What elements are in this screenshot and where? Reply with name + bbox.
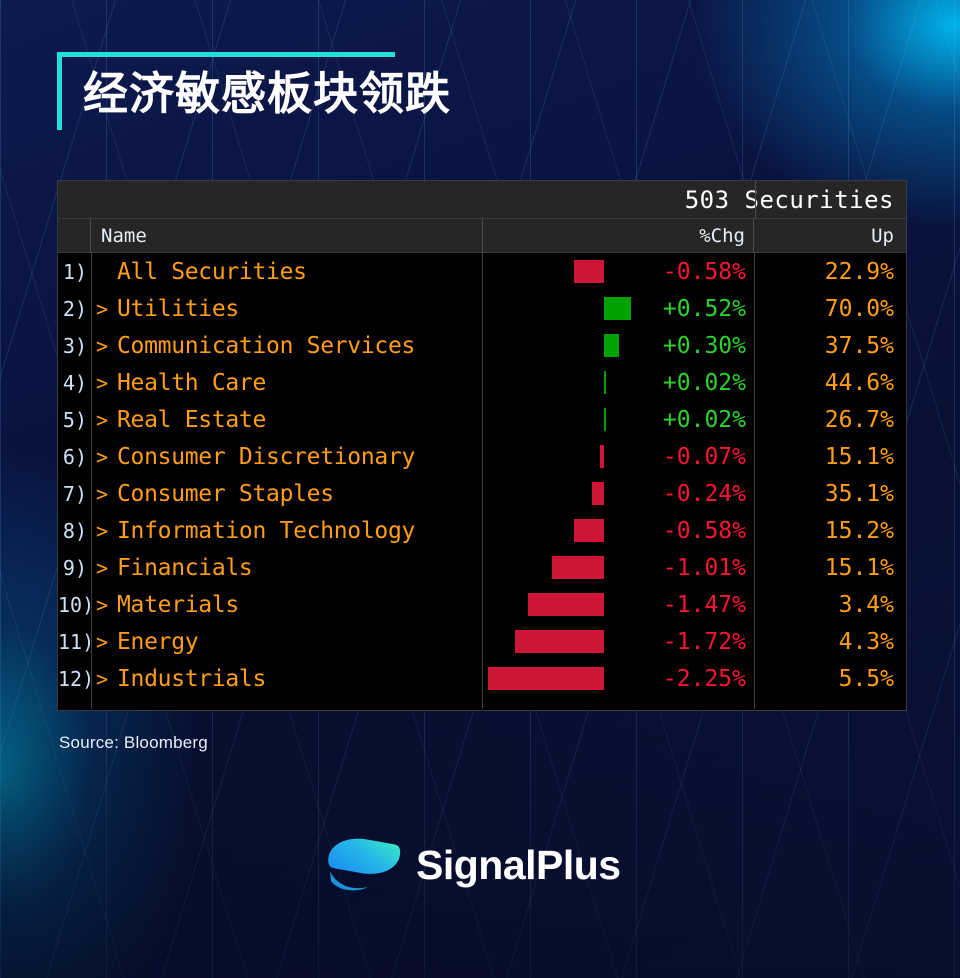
row-index: 1)	[58, 260, 91, 284]
up-value: 15.1%	[755, 444, 906, 470]
expand-caret-icon[interactable]: >	[91, 667, 113, 691]
row-index: 9)	[58, 556, 91, 580]
column-header-chg[interactable]: %Chg	[482, 219, 753, 252]
expand-caret-icon	[91, 260, 113, 284]
signalplus-mark-icon	[322, 833, 402, 897]
brand-logo: SignalPlus	[322, 833, 621, 897]
table-row[interactable]: 11)>Energy-1.72%4.3%	[58, 623, 906, 660]
up-value: 15.2%	[755, 518, 906, 544]
chg-value: -1.72%	[482, 629, 754, 655]
up-value: 37.5%	[755, 333, 906, 359]
expand-caret-icon[interactable]: >	[91, 593, 113, 617]
expand-caret-icon[interactable]: >	[91, 445, 113, 469]
expand-caret-icon[interactable]: >	[91, 334, 113, 358]
row-index: 6)	[58, 445, 91, 469]
chg-value: -0.24%	[482, 481, 754, 507]
bloomberg-table: 503 Securities Name %Chg Up 1) All Secur…	[57, 180, 907, 711]
chg-value: +0.30%	[482, 333, 754, 359]
row-index: 3)	[58, 334, 91, 358]
table-row[interactable]: 9)>Financials-1.01%15.1%	[58, 549, 906, 586]
row-index: 2)	[58, 297, 91, 321]
source-note: Source: Bloomberg	[59, 733, 208, 753]
up-value: 15.1%	[755, 555, 906, 581]
table-row[interactable]: 4)>Health Care+0.02%44.6%	[58, 364, 906, 401]
chg-value: +0.02%	[482, 407, 754, 433]
table-row[interactable]: 6)>Consumer Discretionary-0.07%15.1%	[58, 438, 906, 475]
expand-caret-icon[interactable]: >	[91, 371, 113, 395]
up-value: 22.9%	[755, 259, 906, 285]
table-row[interactable]: 8)>Information Technology-0.58%15.2%	[58, 512, 906, 549]
row-index: 10)	[58, 593, 91, 617]
chg-value: -2.25%	[482, 666, 754, 692]
up-value: 3.4%	[755, 592, 906, 618]
table-titlebar: 503 Securities	[58, 181, 906, 219]
table-body: 1) All Securities-0.58%22.9%2)>Utilities…	[58, 253, 906, 709]
row-index: 4)	[58, 371, 91, 395]
table-row[interactable]: 1) All Securities-0.58%22.9%	[58, 253, 906, 290]
expand-caret-icon[interactable]: >	[91, 297, 113, 321]
table-row[interactable]: 12)>Industrials-2.25%5.5%	[58, 660, 906, 697]
up-value: 35.1%	[755, 481, 906, 507]
chg-value: -0.07%	[482, 444, 754, 470]
chg-value: +0.52%	[482, 296, 754, 322]
up-value: 26.7%	[755, 407, 906, 433]
chg-value: -1.01%	[482, 555, 754, 581]
up-value: 5.5%	[755, 666, 906, 692]
column-header-up[interactable]: Up	[753, 219, 906, 252]
table-row[interactable]: 10)>Materials-1.47%3.4%	[58, 586, 906, 623]
expand-caret-icon[interactable]: >	[91, 408, 113, 432]
table-row[interactable]: 2)>Utilities+0.52%70.0%	[58, 290, 906, 327]
table-row[interactable]: 7)>Consumer Staples-0.24%35.1%	[58, 475, 906, 512]
expand-caret-icon[interactable]: >	[91, 482, 113, 506]
row-index: 8)	[58, 519, 91, 543]
headline-block: 经济敏感板块领跌	[57, 52, 451, 119]
chg-value: -0.58%	[482, 259, 754, 285]
up-value: 70.0%	[755, 296, 906, 322]
security-count-label: 503 Securities	[685, 186, 894, 214]
table-row[interactable]: 3)>Communication Services+0.30%37.5%	[58, 327, 906, 364]
chg-value: +0.02%	[482, 370, 754, 396]
row-index: 5)	[58, 408, 91, 432]
page-title: 经济敏感板块领跌	[83, 52, 451, 119]
chg-value: -1.47%	[482, 592, 754, 618]
expand-caret-icon[interactable]: >	[91, 519, 113, 543]
table-row[interactable]: 5)>Real Estate+0.02%26.7%	[58, 401, 906, 438]
column-header-name[interactable]: Name	[91, 225, 482, 247]
up-value: 4.3%	[755, 629, 906, 655]
expand-caret-icon[interactable]: >	[91, 556, 113, 580]
poster-canvas: 经济敏感板块领跌 503 Securities Name %Chg Up 1) …	[0, 0, 960, 978]
up-value: 44.6%	[755, 370, 906, 396]
expand-caret-icon[interactable]: >	[91, 630, 113, 654]
row-index: 7)	[58, 482, 91, 506]
row-index: 12)	[58, 667, 91, 691]
table-header-row: Name %Chg Up	[58, 219, 906, 253]
chg-value: -0.58%	[482, 518, 754, 544]
headline-accent-rule-horizontal	[57, 52, 395, 57]
brand-name: SignalPlus	[416, 842, 621, 889]
row-index: 11)	[58, 630, 91, 654]
titlebar-divider	[755, 181, 756, 218]
column-header-index	[58, 219, 91, 252]
headline-accent-rule-vertical	[57, 52, 62, 130]
